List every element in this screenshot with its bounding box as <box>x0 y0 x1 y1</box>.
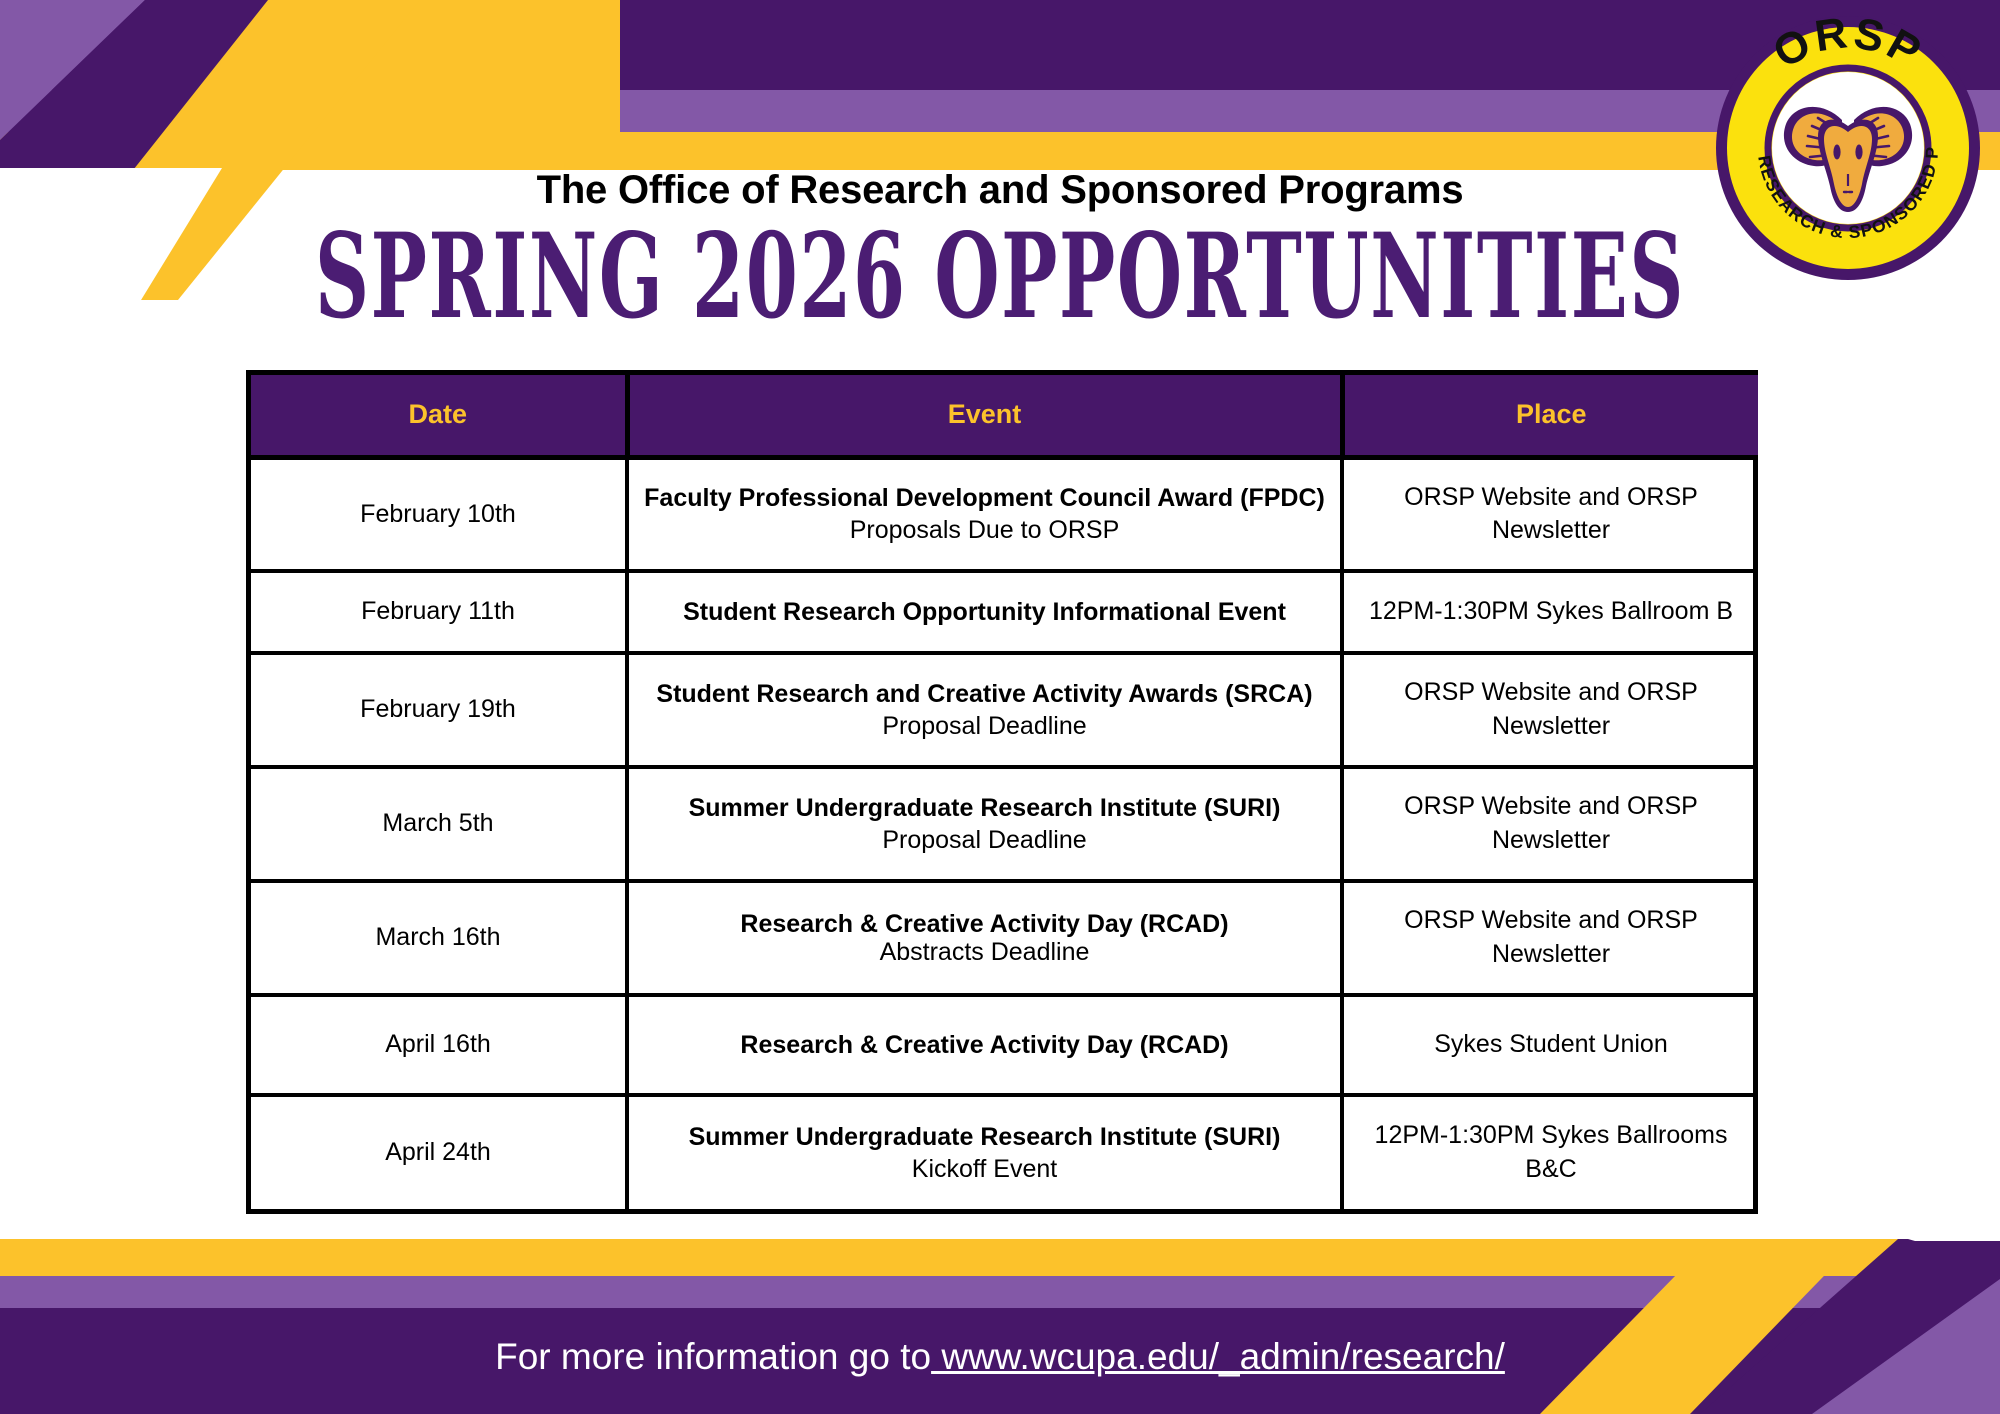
cell-place: 12PM-1:30PM Sykes Ballrooms B&C <box>1342 1095 1758 1209</box>
column-header-event: Event <box>627 375 1342 457</box>
cell-date: February 11th <box>251 571 627 653</box>
bottom-gold-band <box>0 1239 2000 1276</box>
top-light-purple-band <box>0 90 2000 132</box>
cell-event: Research & Creative Activity Day (RCAD) <box>627 995 1342 1095</box>
cell-date: February 19th <box>251 653 627 767</box>
table-row: March 16th Research & Creative Activity … <box>251 881 1758 995</box>
bottom-right-white-wedge <box>1700 1239 2000 1241</box>
cell-event: Research & Creative Activity Day (RCAD) … <box>627 881 1342 995</box>
event-title: Summer Undergraduate Research Institute … <box>639 792 1330 825</box>
top-decorative-banner <box>0 0 2000 170</box>
top-dark-purple-band <box>0 0 2000 90</box>
cell-date: April 16th <box>251 995 627 1095</box>
footer-information-line: For more information go to www.wcupa.edu… <box>0 1336 2000 1378</box>
cell-date: April 24th <box>251 1095 627 1209</box>
cell-place: Sykes Student Union <box>1342 995 1758 1095</box>
footer-prefix-text: For more information go to <box>495 1336 931 1377</box>
top-left-light-purple-diagonal <box>0 0 240 140</box>
event-title: Research & Creative Activity Day (RCAD) <box>639 1029 1330 1062</box>
table-row: February 19th Student Research and Creat… <box>251 653 1758 767</box>
cell-event: Summer Undergraduate Research Institute … <box>627 1095 1342 1209</box>
event-title: Faculty Professional Development Council… <box>639 482 1330 515</box>
table-header-row: Date Event Place <box>251 375 1758 457</box>
opportunities-table: Date Event Place February 10th Faculty P… <box>251 375 1758 1209</box>
cell-place: ORSP Website and ORSP Newsletter <box>1342 457 1758 571</box>
bottom-light-purple-band <box>0 1276 2000 1308</box>
cell-date: March 16th <box>251 881 627 995</box>
page-title: SPRING 2026 OPPORTUNITIES <box>220 218 1780 335</box>
bottom-right-dark-purple-diagonal <box>1700 1239 2000 1414</box>
cell-date: February 10th <box>251 457 627 571</box>
table-row: April 24th Summer Undergraduate Research… <box>251 1095 1758 1209</box>
event-subtitle: Abstracts Deadline <box>639 938 1330 966</box>
footer-website-link[interactable]: www.wcupa.edu/_admin/research/ <box>931 1336 1505 1377</box>
top-left-dark-purple-diagonal <box>0 0 300 170</box>
event-subtitle: Kickoff Event <box>639 1153 1330 1186</box>
event-title: Student Research Opportunity Information… <box>639 596 1330 629</box>
cell-place: ORSP Website and ORSP Newsletter <box>1342 767 1758 881</box>
cell-date: March 5th <box>251 767 627 881</box>
table-row: February 11th Student Research Opportuni… <box>251 571 1758 653</box>
event-title: Research & Creative Activity Day (RCAD) <box>639 910 1330 938</box>
top-left-gold-diagonal-upper <box>0 0 620 170</box>
column-header-place: Place <box>1342 375 1758 457</box>
event-title: Student Research and Creative Activity A… <box>639 678 1330 711</box>
bottom-right-gold-diagonal <box>1440 1239 2000 1414</box>
opportunities-table-container: Date Event Place February 10th Faculty P… <box>246 370 1758 1214</box>
event-title: Summer Undergraduate Research Institute … <box>639 1121 1330 1154</box>
event-subtitle: Proposal Deadline <box>639 824 1330 857</box>
table-row: March 5th Summer Undergraduate Research … <box>251 767 1758 881</box>
cell-place: ORSP Website and ORSP Newsletter <box>1342 881 1758 995</box>
cell-place: ORSP Website and ORSP Newsletter <box>1342 653 1758 767</box>
cell-event: Faculty Professional Development Council… <box>627 457 1342 571</box>
event-subtitle: Proposals Due to ORSP <box>639 514 1330 547</box>
bottom-decorative-banner <box>0 1239 2000 1414</box>
orsp-seal-logo: ORSP OFFICE OF RESEARCH & SPONSORED PROG… <box>1714 14 1982 282</box>
column-header-date: Date <box>251 375 627 457</box>
cell-event: Summer Undergraduate Research Institute … <box>627 767 1342 881</box>
top-gold-band <box>0 132 2000 170</box>
table-row: April 16th Research & Creative Activity … <box>251 995 1758 1095</box>
event-subtitle: Proposal Deadline <box>639 710 1330 743</box>
cell-place: 12PM-1:30PM Sykes Ballroom B <box>1342 571 1758 653</box>
table-row: February 10th Faculty Professional Devel… <box>251 457 1758 571</box>
cell-event: Student Research and Creative Activity A… <box>627 653 1342 767</box>
cell-event: Student Research Opportunity Information… <box>627 571 1342 653</box>
